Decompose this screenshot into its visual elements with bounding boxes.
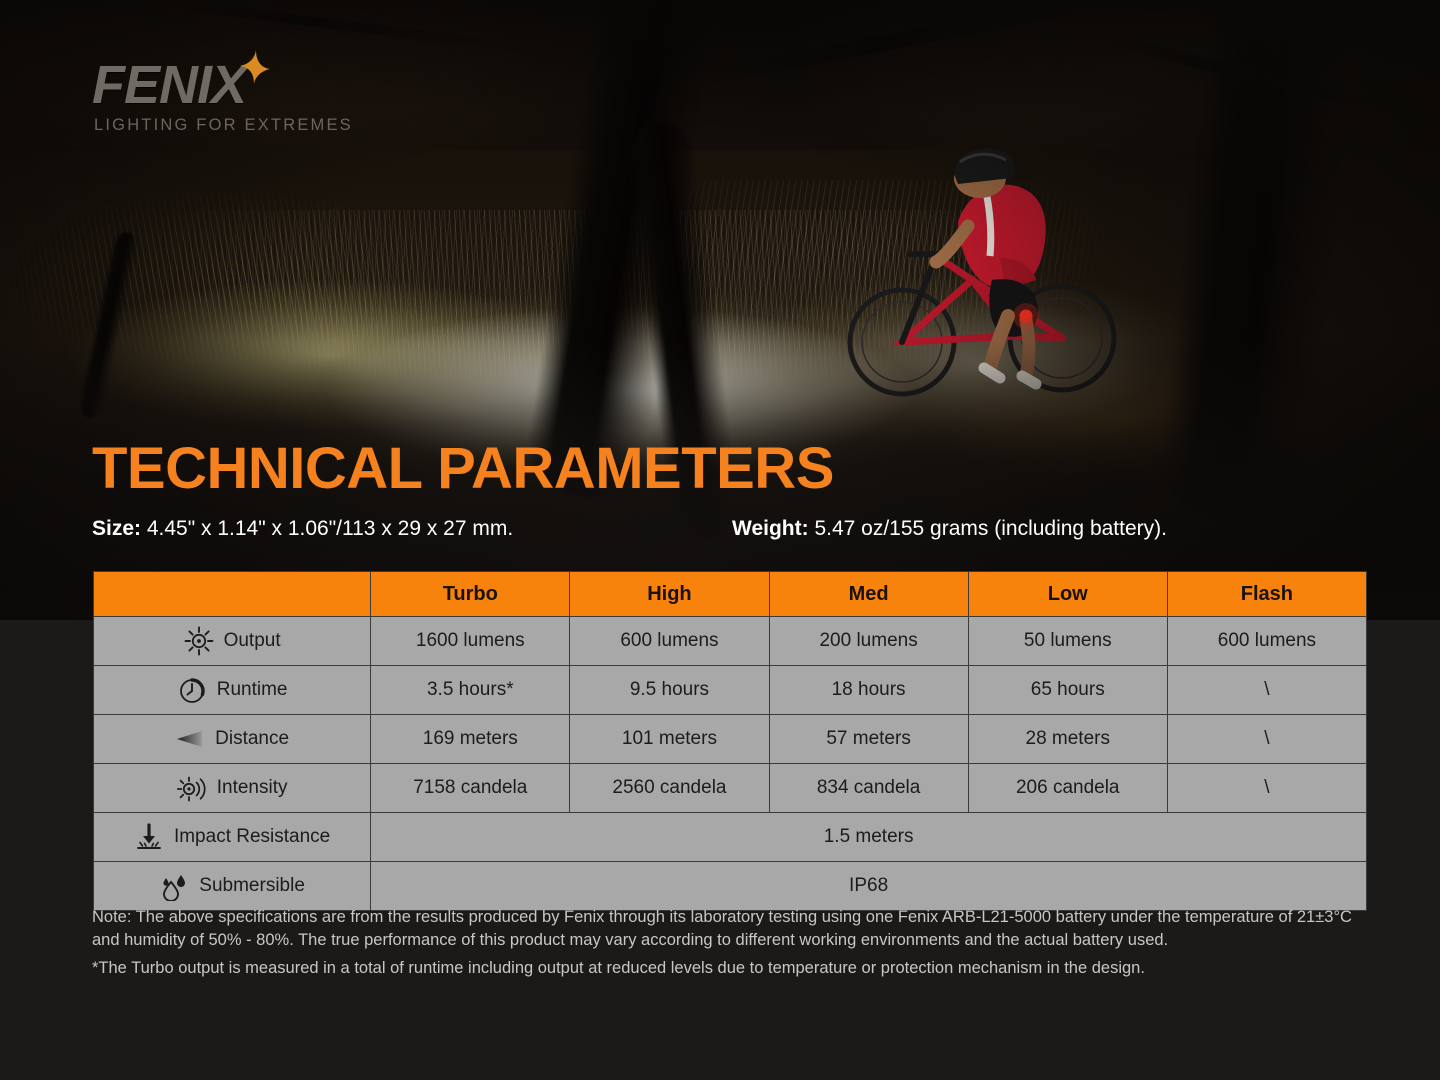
note-main: Note: The above specifications are from … <box>92 906 1380 953</box>
impact-arrow-icon <box>134 822 164 852</box>
weight-label: Weight: <box>732 517 809 540</box>
row-label-runtime: Runtime <box>94 666 371 715</box>
brand-tagline: LIGHTING FOR EXTREMES <box>94 116 392 135</box>
column-header-low: Low <box>968 572 1167 617</box>
row-label-text: Runtime <box>217 679 288 700</box>
cell-output-high: 600 lumens <box>570 617 769 666</box>
cell-distance-low: 28 meters <box>968 715 1167 764</box>
cell-runtime-low: 65 hours <box>968 666 1167 715</box>
clock-icon <box>177 675 207 705</box>
table-row: Impact Resistance 1.5 meters <box>94 813 1367 862</box>
cell-intensity-turbo: 7158 candela <box>371 764 570 813</box>
cell-output-turbo: 1600 lumens <box>371 617 570 666</box>
intensity-icon <box>177 773 207 803</box>
table-row: Distance 169 meters 101 meters 57 meters… <box>94 715 1367 764</box>
fenix-logo: FENIX LIGHTING FOR EXTREMES <box>92 58 392 148</box>
row-label-text: Output <box>224 630 281 651</box>
row-label-impact-resistance: Impact Resistance <box>94 813 371 862</box>
cell-submersible-value: IP68 <box>371 862 1367 911</box>
weight-value: 5.47 oz/155 grams (including battery). <box>814 517 1167 540</box>
cell-intensity-low: 206 candela <box>968 764 1167 813</box>
row-label-text: Impact Resistance <box>174 826 330 847</box>
cell-output-flash: 600 lumens <box>1167 617 1366 666</box>
column-header-flash: Flash <box>1167 572 1366 617</box>
row-label-output: Output <box>94 617 371 666</box>
cell-distance-high: 101 meters <box>570 715 769 764</box>
table-row: Output 1600 lumens 600 lumens 200 lumens… <box>94 617 1367 666</box>
row-label-submersible: Submersible <box>94 862 371 911</box>
star-icon <box>240 50 270 84</box>
note-asterisk: *The Turbo output is measured in a total… <box>92 957 1380 980</box>
size-label: Size: <box>92 517 141 540</box>
row-label-intensity: Intensity <box>94 764 371 813</box>
product-spec-sheet: FENIX LIGHTING FOR EXTREMES TECHNICAL PA… <box>0 0 1440 1080</box>
column-header-high: High <box>570 572 769 617</box>
footnotes: Note: The above specifications are from … <box>92 906 1380 980</box>
cell-runtime-turbo: 3.5 hours* <box>371 666 570 715</box>
row-label-text: Distance <box>215 728 289 749</box>
cell-distance-med: 57 meters <box>769 715 968 764</box>
table-row: Intensity 7158 candela 2560 candela 834 … <box>94 764 1367 813</box>
cell-intensity-high: 2560 candela <box>570 764 769 813</box>
cell-impact-resistance-value: 1.5 meters <box>371 813 1367 862</box>
specifications-table: Turbo High Med Low Flash <box>93 571 1367 911</box>
cell-output-med: 200 lumens <box>769 617 968 666</box>
table-corner-cell <box>94 572 371 617</box>
table-header-row: Turbo High Med Low Flash <box>94 572 1367 617</box>
sun-output-icon <box>184 626 214 656</box>
size-value: 4.45" x 1.14" x 1.06"/113 x 29 x 27 mm. <box>147 517 513 540</box>
cell-distance-turbo: 169 meters <box>371 715 570 764</box>
water-drop-icon <box>159 871 189 901</box>
dimensions-row: Size: 4.45" x 1.14" x 1.06"/113 x 29 x 2… <box>92 517 1382 547</box>
column-header-med: Med <box>769 572 968 617</box>
cell-runtime-med: 18 hours <box>769 666 968 715</box>
page-title: TECHNICAL PARAMETERS <box>92 440 834 498</box>
row-label-text: Submersible <box>199 875 305 896</box>
beam-distance-icon <box>175 724 205 754</box>
cell-runtime-high: 9.5 hours <box>570 666 769 715</box>
cell-distance-flash: \ <box>1167 715 1366 764</box>
table-row: Submersible IP68 <box>94 862 1367 911</box>
cell-intensity-flash: \ <box>1167 764 1366 813</box>
cell-intensity-med: 834 candela <box>769 764 968 813</box>
size-group: Size: 4.45" x 1.14" x 1.06"/113 x 29 x 2… <box>92 517 513 541</box>
cell-runtime-flash: \ <box>1167 666 1366 715</box>
cell-output-low: 50 lumens <box>968 617 1167 666</box>
table-row: Runtime 3.5 hours* 9.5 hours 18 hours 65… <box>94 666 1367 715</box>
row-label-distance: Distance <box>94 715 371 764</box>
weight-group: Weight: 5.47 oz/155 grams (including bat… <box>732 517 1167 541</box>
row-label-text: Intensity <box>217 777 288 798</box>
column-header-turbo: Turbo <box>371 572 570 617</box>
